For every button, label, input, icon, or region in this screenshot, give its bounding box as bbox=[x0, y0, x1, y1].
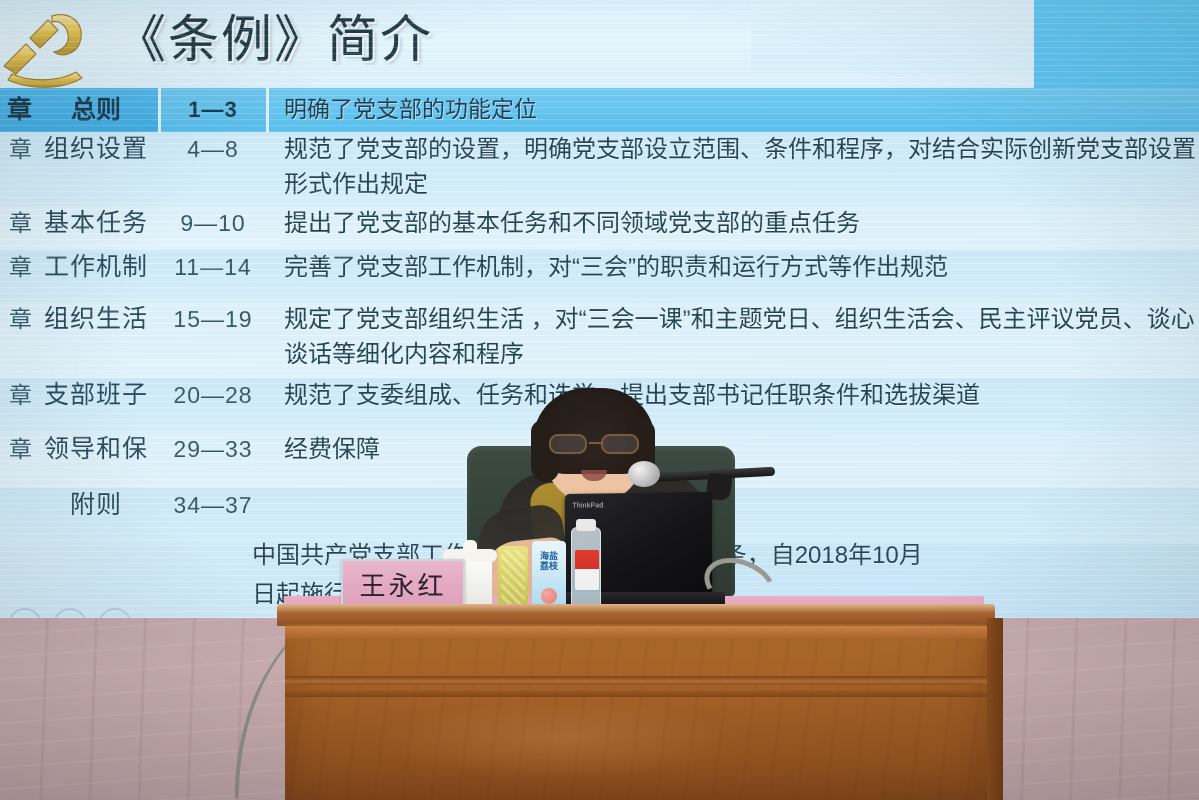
party-hammer-sickle-emblem bbox=[0, 0, 100, 90]
pen-annotate-icon[interactable]: ✎ bbox=[8, 608, 42, 618]
row-articles: 34—37 bbox=[158, 488, 268, 523]
table-header-row: 章 总则 1—3 明确了党支部的功能定位 bbox=[0, 88, 1199, 132]
header-articles: 1—3 bbox=[158, 88, 268, 132]
drink-label: 海盐 荔枝 bbox=[535, 551, 563, 571]
green-canned-drink bbox=[498, 546, 528, 611]
header-name: 总则 bbox=[34, 88, 158, 132]
eyeglass-lens-right bbox=[601, 434, 639, 454]
podium-desk-top bbox=[277, 604, 995, 626]
desk-molding-top bbox=[285, 626, 987, 639]
row-chapter: 章 bbox=[0, 432, 34, 467]
water-bottle-cap bbox=[576, 519, 596, 531]
desk-highlight bbox=[380, 700, 740, 780]
nameplate-text: 王永红 bbox=[359, 566, 446, 603]
row-articles: 20—28 bbox=[158, 378, 268, 413]
lychee-graphic bbox=[541, 588, 557, 604]
presenter-toolbar[interactable]: ✎ ⌕ ••• bbox=[8, 608, 132, 618]
row-chapter bbox=[0, 488, 34, 523]
microphone-head bbox=[628, 461, 660, 487]
row-chapter: 章 bbox=[0, 302, 34, 372]
row-name: 组织生活 bbox=[34, 302, 158, 372]
photo-scene: 《条例》简介 章 总则 1—3 明确了党支部的功能定位 bbox=[0, 0, 1199, 800]
water-bottle-label bbox=[575, 550, 599, 590]
header-chapter: 章 bbox=[0, 88, 34, 132]
row-description: 规定了党支部组织生活 ，对“三会一课”和主题党日、组织生活会、民主评议党员、谈心… bbox=[268, 302, 1199, 372]
table-row: 章 组织设置 4—8 规范了党支部的设置，明确党支部设立范围、条件和程序，对结合… bbox=[0, 132, 1199, 206]
magnifier-zoom-icon[interactable]: ⌕ bbox=[53, 608, 87, 618]
row-chapter: 章 bbox=[0, 378, 34, 413]
row-description: 完善了党支部工作机制，对“三会”的职责和运行方式等作出规范 bbox=[268, 250, 1199, 285]
desk-right-side bbox=[987, 618, 1003, 800]
row-description: 提出了党支部的基本任务和不同领域党支部的重点任务 bbox=[268, 206, 1199, 241]
row-description: 规范了党支部的设置，明确党支部设立范围、条件和程序，对结合实际创新党支部设置形式… bbox=[268, 132, 1199, 202]
table-row: 章 工作机制 11—14 完善了党支部工作机制，对“三会”的职责和运行方式等作出… bbox=[0, 250, 1199, 302]
eyeglasses-icon bbox=[547, 434, 643, 454]
desk-molding-mid bbox=[285, 676, 987, 685]
eyeglass-bridge bbox=[589, 442, 601, 444]
table-row: 章 组织生活 15—19 规定了党支部组织生活 ，对“三会一课”和主题党日、组织… bbox=[0, 302, 1199, 378]
row-articles: 9—10 bbox=[158, 206, 268, 241]
row-articles: 15—19 bbox=[158, 302, 268, 372]
row-name: 附则 bbox=[34, 488, 158, 523]
nameplate: 王永红 bbox=[341, 559, 465, 610]
row-articles: 11—14 bbox=[158, 250, 268, 285]
eyeglass-lens-left bbox=[549, 434, 587, 454]
more-options-icon[interactable]: ••• bbox=[98, 608, 132, 618]
desk-molding-lower bbox=[285, 690, 987, 697]
water-bottle bbox=[571, 527, 601, 611]
row-name: 基本任务 bbox=[34, 206, 158, 241]
laptop-brand-logo: ThinkPad. bbox=[572, 502, 605, 509]
desk-top-sheen bbox=[277, 604, 995, 613]
row-name: 领导和保 bbox=[34, 432, 158, 467]
row-articles: 4—8 bbox=[158, 132, 268, 202]
header-description: 明确了党支部的功能定位 bbox=[268, 88, 1199, 132]
slide-title: 《条例》简介 bbox=[115, 4, 433, 78]
table-row: 章 基本任务 9—10 提出了党支部的基本任务和不同领域党支部的重点任务 bbox=[0, 206, 1199, 250]
row-chapter: 章 bbox=[0, 206, 34, 241]
slide-title-band: 《条例》简介 bbox=[0, 0, 1199, 88]
row-articles: 29—33 bbox=[158, 432, 268, 467]
tea-mug-knob bbox=[463, 540, 477, 552]
row-chapter: 章 bbox=[0, 132, 34, 202]
row-chapter: 章 bbox=[0, 250, 34, 285]
row-name: 组织设置 bbox=[34, 132, 158, 202]
title-band-accent bbox=[1034, 0, 1199, 88]
row-name: 支部班子 bbox=[34, 378, 158, 413]
laptop-brand-text: ThinkPad bbox=[572, 502, 603, 509]
laptop-brand-dot: . bbox=[603, 502, 605, 509]
row-name: 工作机制 bbox=[34, 250, 158, 285]
sea-salt-lychee-drink: 海盐 荔枝 bbox=[532, 541, 566, 611]
